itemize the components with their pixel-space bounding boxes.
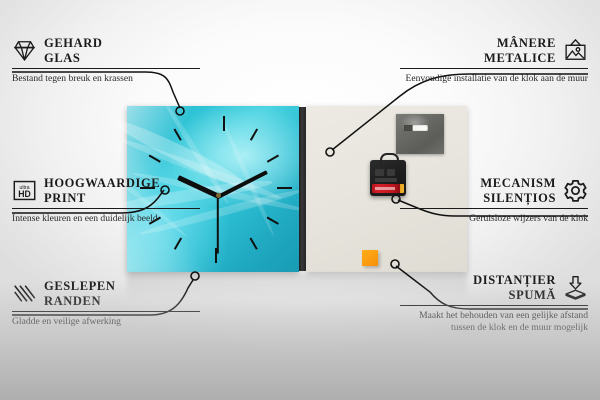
callout-rule <box>400 208 588 209</box>
callout-manere-metalice[interactable]: MÂNERE METALICE Eenvoudige installatie v… <box>400 36 588 85</box>
callout-description: Maakt het behouden van een gelijke afsta… <box>400 310 588 333</box>
callout-description: Intense kleuren en een duidelijk beeld <box>12 213 200 225</box>
svg-text:HD: HD <box>18 189 31 199</box>
foam-spacer <box>362 250 378 266</box>
clock-tick <box>267 155 279 163</box>
callout-title-line2: PRINT <box>44 191 86 205</box>
battery-label <box>375 187 395 190</box>
callout-title-line2: SPUMĂ <box>509 288 556 302</box>
callout-distantier-spuma[interactable]: DISTANȚIER SPUMĂ Maakt het behouden van … <box>400 273 588 334</box>
mechanism-emboss <box>375 169 384 176</box>
mechanism-hook <box>380 153 399 165</box>
callout-title-line1: GEHARD <box>44 36 102 50</box>
callout-mecanism-silentios[interactable]: MECANISM SILENȚIOS Geruisloze wijzers va… <box>400 176 588 225</box>
callout-rule <box>12 68 200 69</box>
clock-edge <box>299 107 306 271</box>
clock-tick <box>250 237 258 249</box>
callout-title-line2: RANDEN <box>44 294 101 308</box>
clock-tick <box>223 116 225 131</box>
ultra-hd-icon: ultra HD <box>12 178 37 203</box>
callout-description: Bestand tegen breuk en krassen <box>12 73 200 85</box>
diamond-icon <box>12 38 37 63</box>
callout-title-line2: GLAS <box>44 51 80 65</box>
callout-rule <box>400 305 588 306</box>
metal-hanger-plate <box>396 114 444 154</box>
callout-rule <box>12 311 200 312</box>
clock-second-hand <box>217 196 219 254</box>
callout-title-line1: MECANISM <box>480 176 556 190</box>
picture-frame-hanger-icon <box>563 38 588 63</box>
callout-rule <box>400 68 588 69</box>
callout-geslepen-randen[interactable]: GESLEPEN RANDEN Gladde en veilige afwerk… <box>12 279 200 328</box>
clock-tick <box>277 187 292 189</box>
clock-tick <box>174 237 182 249</box>
callout-title-line1: MÂNERE <box>497 36 556 50</box>
clock-tick <box>250 128 258 140</box>
callout-description: Eenvoudige installatie van de klok aan d… <box>400 73 588 85</box>
callout-title-line2: METALICE <box>484 51 556 65</box>
callout-title-line1: DISTANȚIER <box>473 273 556 287</box>
callout-title-line1: GESLEPEN <box>44 279 116 293</box>
callout-hoogwaardige-print[interactable]: ultra HD HOOGWAARDIGE PRINT Intense kleu… <box>12 176 200 225</box>
callout-description: Gladde en veilige afwerking <box>12 316 200 328</box>
mechanism-emboss <box>375 178 397 182</box>
beveled-edges-icon <box>12 281 37 306</box>
clock-center-hub <box>216 193 221 198</box>
callout-gehard-glas[interactable]: GEHARD GLAS Bestand tegen breuk en krass… <box>12 36 200 85</box>
callout-title-line1: HOOGWAARDIGE <box>44 176 160 190</box>
hanger-slot <box>404 125 428 131</box>
callout-title-line2: SILENȚIOS <box>483 191 556 205</box>
press-down-pad-icon <box>563 275 588 300</box>
infographic-canvas: GEHARD GLAS Bestand tegen breuk en krass… <box>0 0 600 400</box>
callout-rule <box>12 208 200 209</box>
callout-description: Geruisloze wijzers van de klok <box>400 213 588 225</box>
gear-icon <box>563 178 588 203</box>
mechanism-emboss <box>387 169 395 176</box>
